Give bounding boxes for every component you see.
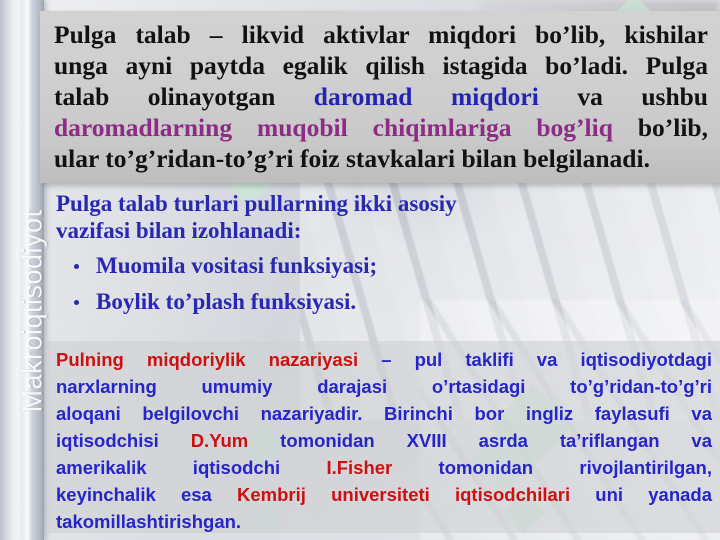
text-line: Pulga talab – likvid aktivlar miqdori bo… xyxy=(54,19,708,50)
text-run: iqtisodchisi xyxy=(56,430,191,451)
bullet-item-1: Muomila vositasi funksiyasi; xyxy=(56,248,696,284)
text-run: uni yanada xyxy=(570,484,712,505)
text-line: narxlarning umumiy darajasi o’rtasidagi … xyxy=(56,373,712,400)
text-run: aloqani belgilovchi nazariyadir. Birinch… xyxy=(56,403,712,424)
middle-content-block: Pulga talab turlari pullarning ikki asos… xyxy=(56,190,696,320)
title-paragraph: Pulga talab – likvid aktivlar miqdori bo… xyxy=(54,19,708,174)
text-run: I.Fisher xyxy=(326,457,392,478)
middle-heading: Pulga talab turlari pullarning ikki asos… xyxy=(56,190,536,244)
bottom-paragraph: Pulning miqdoriylik nazariyasi – pul tak… xyxy=(56,346,712,535)
text-run: Pulga talab – likvid aktivlar miqdori bo… xyxy=(54,20,708,49)
bullet-item-2: Boylik to’plash funksiyasi. xyxy=(56,284,696,320)
text-run: daromad miqdori xyxy=(314,82,539,111)
text-run: D.Yum xyxy=(191,430,249,451)
text-line: talab olinayotgan daromad miqdori va ush… xyxy=(54,81,708,112)
text-run: talab olinayotgan xyxy=(54,82,314,111)
left-side-column xyxy=(0,0,44,540)
title-panel: Pulga talab – likvid aktivlar miqdori bo… xyxy=(40,11,720,183)
text-line: iqtisodchisi D.Yum tomonidan XVIII asrda… xyxy=(56,427,712,454)
text-run: daromadlarning muqobil chiqimlariga bog’… xyxy=(54,113,613,142)
text-run: amerikalik iqtisodchi xyxy=(56,457,326,478)
text-run: narxlarning umumiy darajasi o’rtasidagi … xyxy=(56,376,712,397)
text-line: amerikalik iqtisodchi I.Fisher tomonidan… xyxy=(56,454,712,481)
text-line: ular to’g’ridan-to’g’ri foiz stavkalari … xyxy=(54,143,708,174)
slide-canvas: Makroiqtisodiyot Pulga talab – likvid ak… xyxy=(0,0,720,540)
text-run: Pulning miqdoriylik nazariyasi xyxy=(56,349,358,370)
text-run: takomillashtirishgan. xyxy=(56,511,241,532)
text-line: takomillashtirishgan. xyxy=(56,508,712,535)
text-run: tomonidan XVIII asrda ta’riflangan va xyxy=(248,430,712,451)
text-line: daromadlarning muqobil chiqimlariga bog’… xyxy=(54,112,708,143)
middle-bullet-list: Muomila vositasi funksiyasi;Boylik to’pl… xyxy=(56,248,696,320)
text-run: Kembrij universiteti iqtisodchilari xyxy=(237,484,570,505)
bottom-definition-panel: Pulning miqdoriylik nazariyasi – pul tak… xyxy=(47,341,720,533)
text-line: keyinchalik esa Kembrij universiteti iqt… xyxy=(56,481,712,508)
text-line: Pulning miqdoriylik nazariyasi – pul tak… xyxy=(56,346,712,373)
text-run: va ushbu xyxy=(539,82,708,111)
text-run: unga ayni paytda egalik qilish istagida … xyxy=(54,51,708,80)
text-run: tomonidan rivojlantirilgan, xyxy=(392,457,712,478)
text-run: – pul taklifi va iqtisodiyotdagi xyxy=(358,349,712,370)
text-line: unga ayni paytda egalik qilish istagida … xyxy=(54,50,708,81)
text-run: ular to’g’ridan-to’g’ri foiz stavkalari … xyxy=(54,144,650,173)
text-run: bo’lib, xyxy=(613,113,708,142)
text-line: aloqani belgilovchi nazariyadir. Birinch… xyxy=(56,400,712,427)
text-run: keyinchalik esa xyxy=(56,484,237,505)
column-highlight xyxy=(22,0,32,540)
